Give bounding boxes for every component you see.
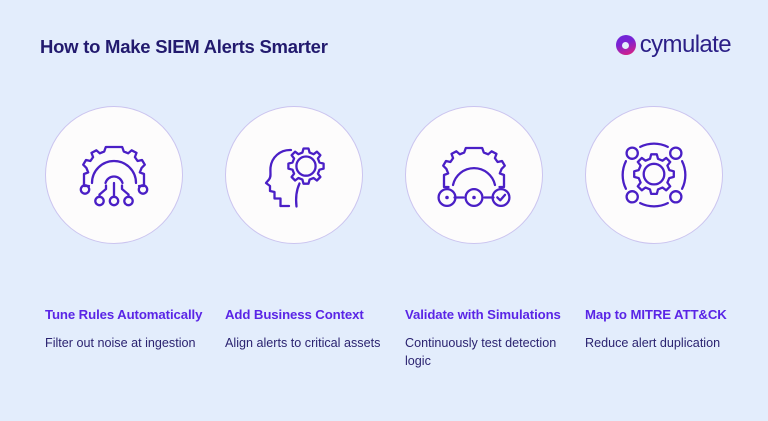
step-4-icon-circle: [585, 106, 723, 244]
step-3-body: Continuously test detection logic: [405, 335, 565, 370]
gear-circuit-nodes-icon: [76, 139, 152, 211]
step-card-2: Add Business Context Align alerts to cri…: [225, 106, 405, 353]
infographic-canvas: How to Make SIEM Alerts Smarter cymulate: [0, 0, 768, 421]
step-1-body: Filter out noise at ingestion: [45, 335, 205, 352]
step-3-icon-circle: [405, 106, 543, 244]
step-card-4: Map to MITRE ATT&CK Reduce alert duplica…: [585, 106, 765, 353]
step-4-body: Reduce alert duplication: [585, 335, 745, 352]
step-1-heading: Tune Rules Automatically: [45, 306, 205, 323]
step-card-1: Tune Rules Automatically Filter out nois…: [45, 106, 225, 353]
step-4-heading: Map to MITRE ATT&CK: [585, 306, 745, 323]
head-profile-gear-icon: [256, 138, 332, 212]
gear-orbit-nodes-icon: [616, 137, 692, 213]
gear-nodes-checkmark-icon: [436, 140, 512, 210]
step-2-icon-circle: [225, 106, 363, 244]
step-1-icon-circle: [45, 106, 183, 244]
steps-row: Tune Rules Automatically Filter out nois…: [0, 0, 768, 421]
step-card-3: Validate with Simulations Continuously t…: [405, 106, 585, 370]
step-2-heading: Add Business Context: [225, 306, 385, 323]
step-2-body: Align alerts to critical assets: [225, 335, 385, 352]
step-3-heading: Validate with Simulations: [405, 306, 565, 323]
